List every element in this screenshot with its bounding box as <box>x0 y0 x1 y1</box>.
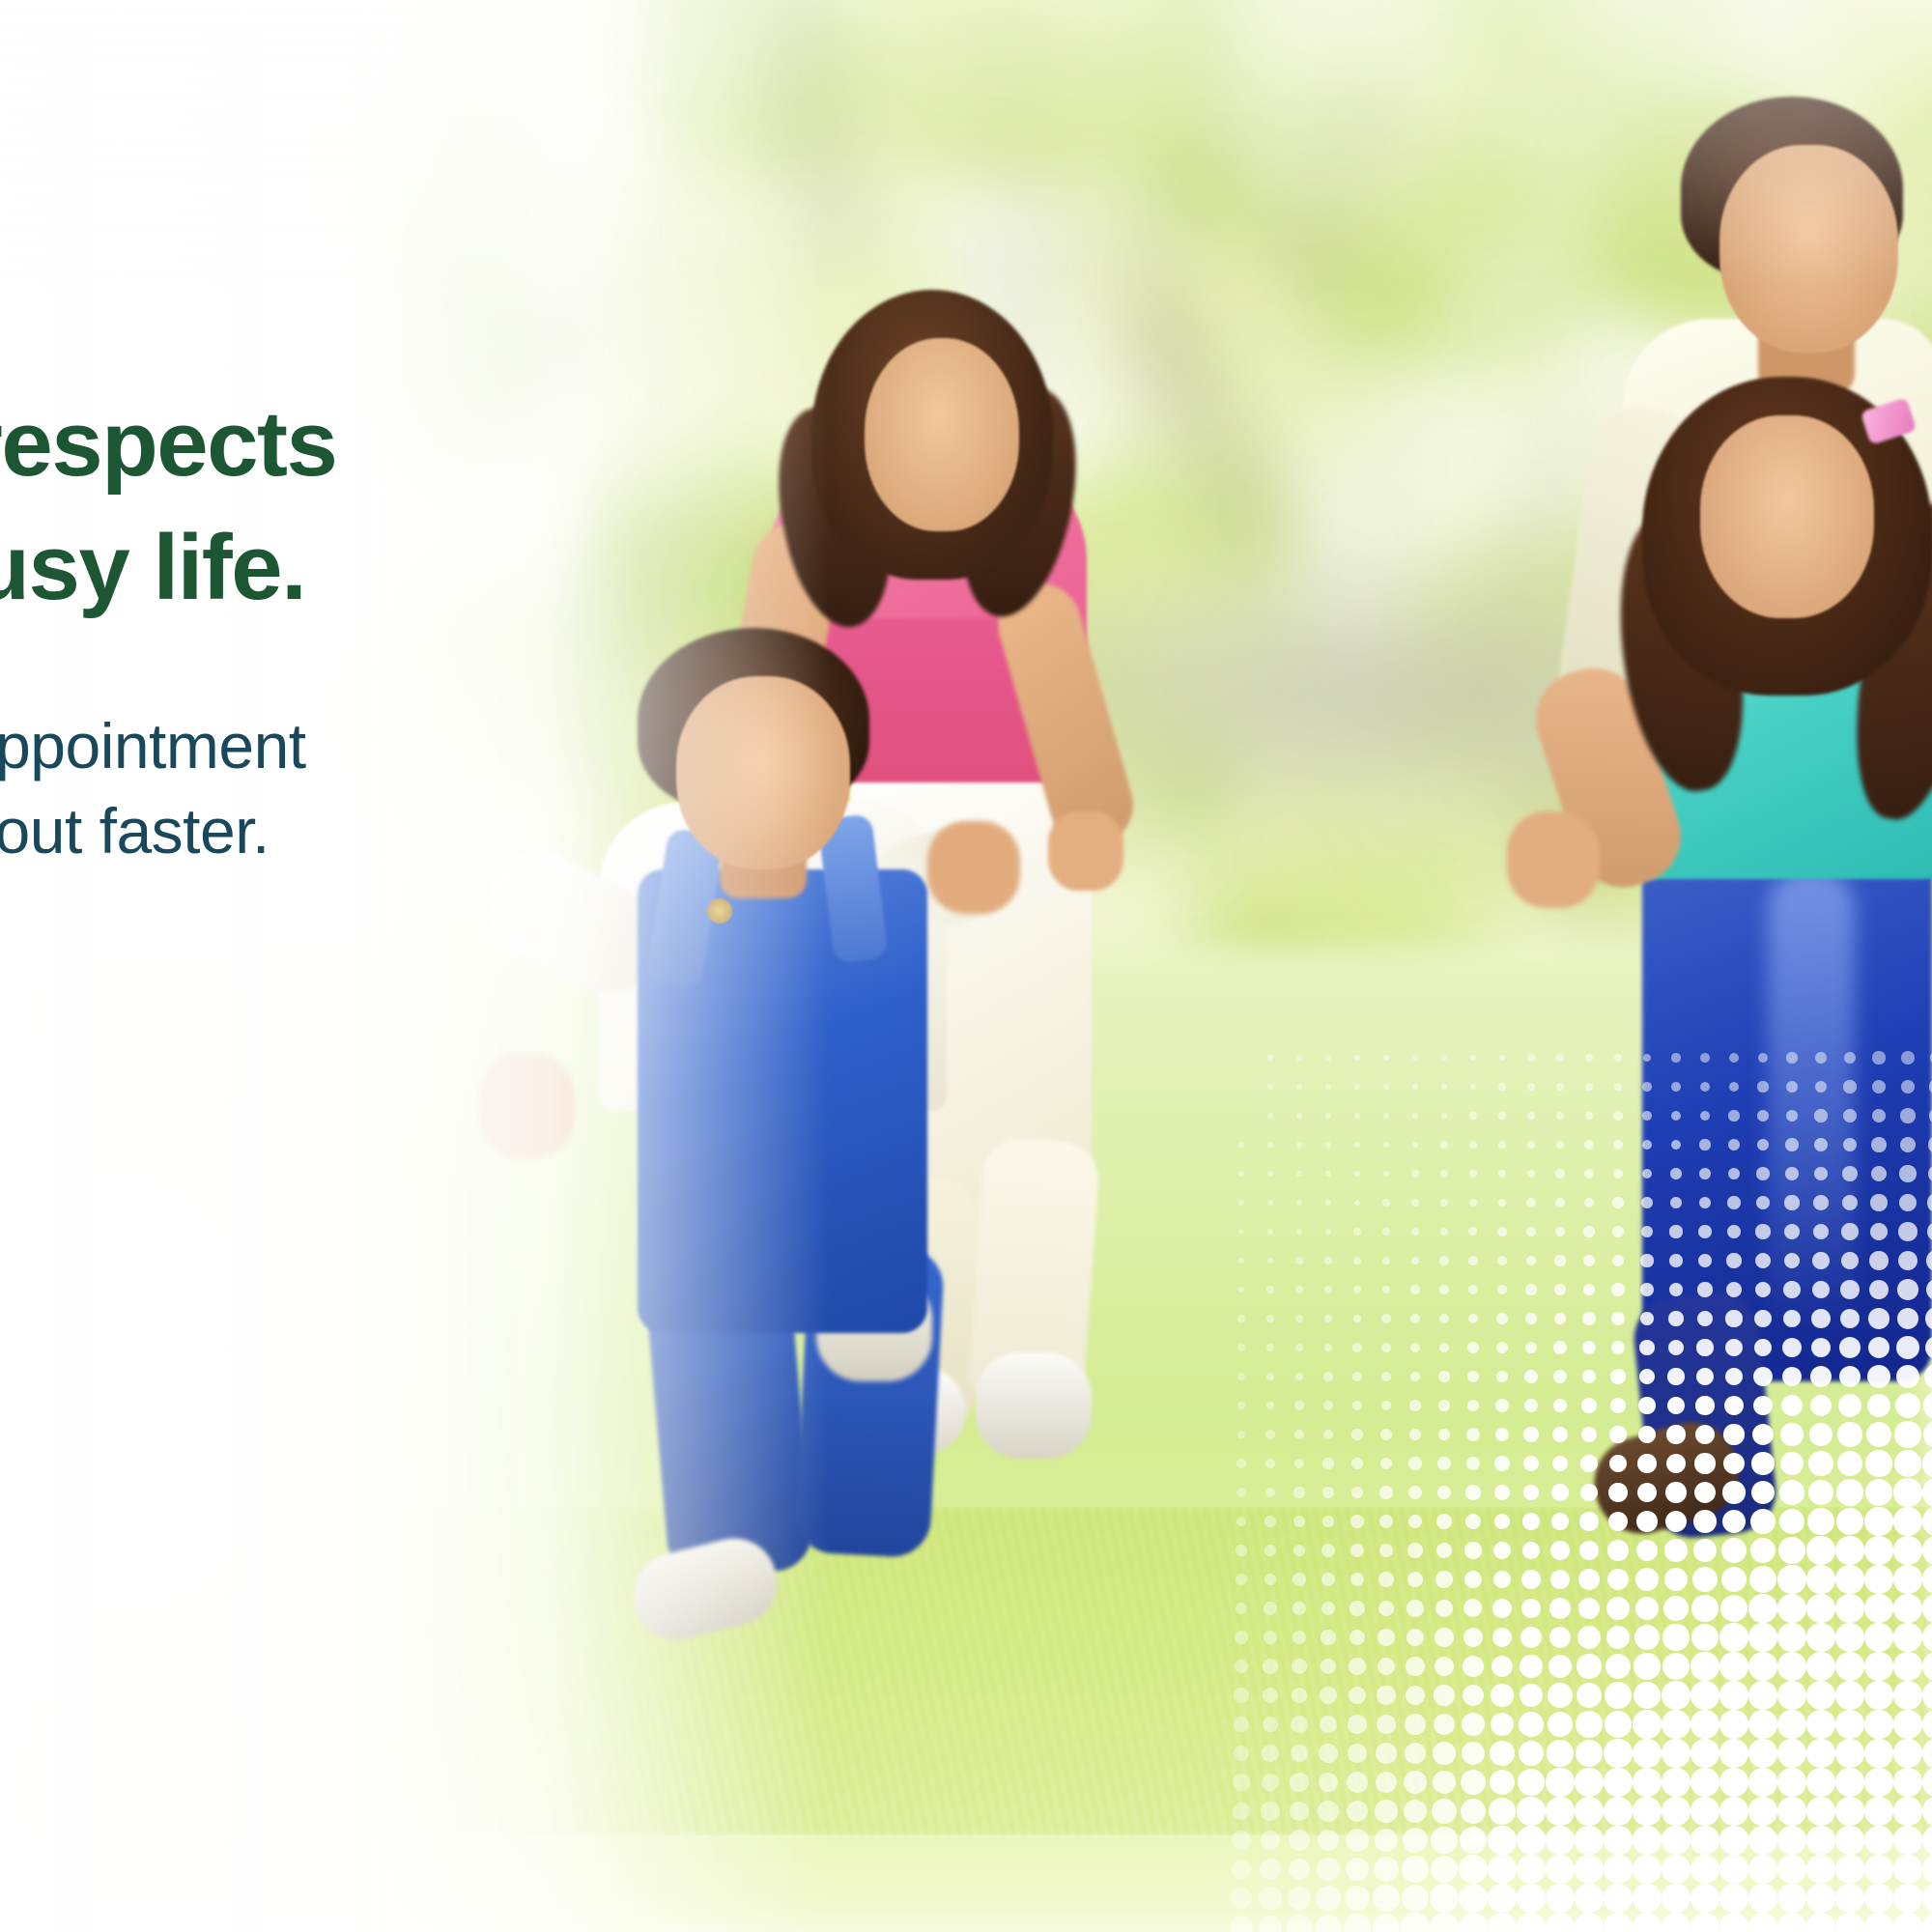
headline-line-1-text: b that respects <box>0 392 336 496</box>
hero-photo <box>0 0 1932 1932</box>
girl-face <box>1700 415 1874 618</box>
subcopy-line-2: et in and out faster. <box>0 788 703 873</box>
woman-hand-right <box>1048 811 1123 891</box>
hero-subcopy: dule an appointment et in and out faster… <box>0 703 703 873</box>
headline-line-2: your busy life. <box>0 506 665 630</box>
boy-hand-right <box>927 821 1020 914</box>
headline-line-1: b that respects <box>0 383 665 506</box>
left-white-gradient-overlay <box>0 0 831 1932</box>
girl-hand <box>1507 811 1600 908</box>
woman-face <box>865 338 1019 531</box>
top-white-gradient-overlay <box>0 0 1932 290</box>
woman-shoe-right <box>976 1352 1092 1459</box>
girl-jeans-highlight <box>1768 869 1855 1333</box>
hero-banner: b that respects your busy life. dule an … <box>0 0 1932 1932</box>
subcopy-line-1: dule an appointment <box>0 703 703 788</box>
page-title: b that respects your busy life. <box>0 383 665 630</box>
